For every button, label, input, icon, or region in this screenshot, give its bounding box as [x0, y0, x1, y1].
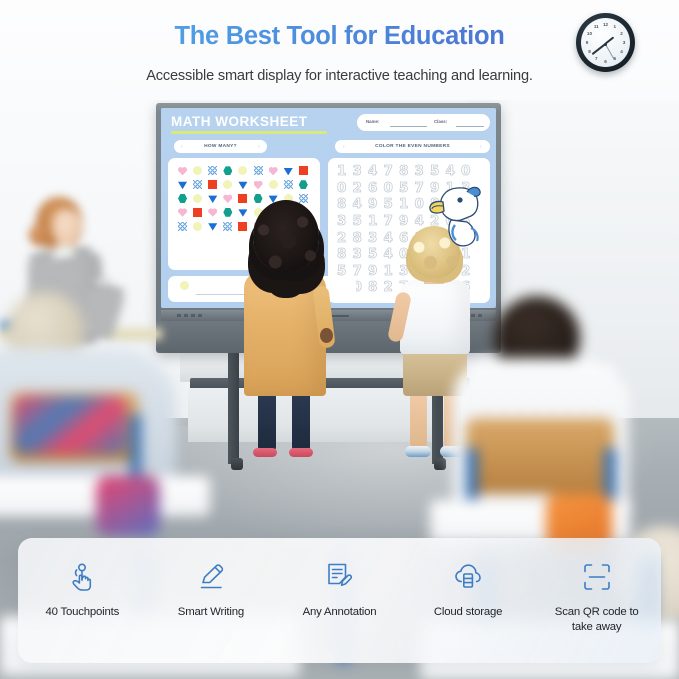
worksheet-number: 4 — [384, 246, 393, 262]
clock-numeral: 2 — [618, 31, 626, 36]
worksheet-number: 5 — [368, 246, 377, 262]
worksheet-header: MATH WORKSHEET Name: Class: — [168, 114, 490, 136]
chevron-left-icon: › — [343, 144, 345, 150]
worksheet-shape — [178, 166, 187, 175]
feature-highlights-bar: 40 Touchpoints Smart Writing — [18, 538, 661, 663]
feature-label: Cloud storage — [434, 605, 502, 620]
worksheet-shape — [254, 194, 263, 203]
worksheet-number: 8 — [337, 196, 346, 212]
chevron-right-icon: › — [480, 144, 482, 150]
duck-cartoon-drawing — [427, 180, 485, 250]
worksheet-shape — [208, 194, 217, 203]
page-subtitle: Accessible smart display for interactive… — [0, 68, 679, 84]
worksheet-number: 0 — [461, 163, 470, 179]
worksheet-number: 1 — [368, 213, 377, 229]
section-header-color-even: › COLOR THE EVEN NUMBERS › — [335, 140, 490, 153]
worksheet-number: 9 — [368, 263, 377, 279]
worksheet-shape — [299, 180, 308, 189]
worksheet-number: 4 — [415, 213, 424, 229]
worksheet-number: 0 — [384, 180, 393, 196]
chair-back — [466, 418, 614, 494]
girl-leg — [292, 390, 310, 452]
wall-clock: 121234567891011 — [576, 13, 635, 72]
feature-item-qr-scan[interactable]: Scan QR code to take away — [532, 538, 661, 634]
worksheet-shape — [178, 222, 187, 231]
worksheet-number: 2 — [384, 279, 393, 295]
backpack — [96, 476, 160, 536]
qr-scan-icon — [580, 560, 614, 594]
feature-label: Scan QR code to take away — [544, 605, 650, 634]
feature-label: 40 Touchpoints — [45, 605, 119, 620]
girl-hair-texture — [248, 206, 326, 286]
worksheet-number: 7 — [353, 263, 362, 279]
feature-item-any-annotation[interactable]: Any Annotation — [275, 538, 404, 620]
feature-item-smart-writing[interactable]: Smart Writing — [147, 538, 276, 620]
worksheet-number: 5 — [430, 163, 439, 179]
clock-numeral: 9 — [583, 40, 591, 45]
worksheet-number: 2 — [353, 180, 362, 196]
answer-blank — [196, 294, 244, 295]
worksheet-number: 5 — [399, 180, 408, 196]
worksheet-number: 0 — [415, 196, 424, 212]
worksheet-number: 7 — [384, 213, 393, 229]
teacher-hair-bun — [29, 224, 50, 246]
clock-numeral: 5 — [611, 56, 619, 61]
worksheet-number: 8 — [399, 163, 408, 179]
answer-shape — [180, 281, 189, 290]
clock-numeral: 7 — [592, 56, 600, 61]
worksheet-number: 5 — [353, 213, 362, 229]
worksheet-number: 8 — [368, 279, 377, 295]
annotation-icon — [322, 560, 356, 594]
worksheet-number: 7 — [384, 163, 393, 179]
screenshot-root: MATH WORKSHEET Name: Class: › HOW — [0, 0, 679, 679]
worksheet-number: 3 — [353, 246, 362, 262]
worksheet-shape — [223, 180, 232, 189]
worksheet-number: 8 — [337, 246, 346, 262]
feature-item-cloud-storage[interactable]: Cloud storage — [404, 538, 533, 620]
worksheet-shape — [208, 166, 217, 175]
worksheet-shape — [238, 166, 247, 175]
worksheet-shape — [178, 194, 187, 203]
worksheet-shape — [208, 180, 217, 189]
clock-numeral: 8 — [585, 49, 593, 54]
clock-numeral: 12 — [602, 22, 610, 27]
bezel-ports-left — [177, 314, 203, 317]
feature-label: Any Annotation — [303, 605, 377, 620]
worksheet-number: 4 — [384, 230, 393, 246]
chevron-left-icon: › — [181, 144, 183, 150]
clock-face: 121234567891011 — [581, 18, 630, 67]
worksheet-shape — [284, 166, 293, 175]
boy-sneaker — [405, 446, 431, 457]
worksheet-number: 7 — [415, 180, 424, 196]
worksheet-shape — [223, 194, 232, 203]
section-header-how-many: › HOW MANY? › — [174, 140, 267, 153]
worksheet-number: 3 — [353, 163, 362, 179]
worksheet-shape — [238, 180, 247, 189]
clock-numeral: 3 — [620, 40, 628, 45]
worksheet-shape — [178, 208, 187, 217]
worksheet-shape — [178, 180, 187, 189]
worksheet-shape — [238, 222, 247, 231]
touch-icon — [65, 560, 99, 594]
display-stand-column-left — [228, 346, 239, 464]
worksheet-shape — [193, 166, 202, 175]
worksheet-number: 0 — [337, 180, 346, 196]
clock-numeral: 11 — [592, 24, 600, 29]
clock-numeral: 4 — [618, 49, 626, 54]
worksheet-shape — [269, 166, 278, 175]
worksheet-number: 3 — [337, 213, 346, 229]
stand-caster — [434, 458, 446, 470]
worksheet-number: 4 — [446, 163, 455, 179]
cloud-storage-icon — [451, 560, 485, 594]
clock-numeral: 6 — [602, 59, 610, 64]
worksheet-number: 9 — [368, 196, 377, 212]
worksheet-shape — [208, 222, 217, 231]
teacher-face — [52, 209, 81, 245]
teacher-collar — [52, 246, 74, 258]
chevron-right-icon: › — [258, 144, 260, 150]
worksheet-shape — [223, 222, 232, 231]
worksheet-shape — [193, 180, 202, 189]
worksheet-number: 3 — [415, 163, 424, 179]
worksheet-shape — [193, 194, 202, 203]
worksheet-shape — [269, 180, 278, 189]
worksheet-shape — [193, 208, 202, 217]
worksheet-shape — [254, 180, 263, 189]
worksheet-shape — [223, 166, 232, 175]
worksheet-number: 5 — [384, 196, 393, 212]
worksheet-shape — [299, 194, 308, 203]
worksheet-title: MATH WORKSHEET — [171, 114, 308, 129]
worksheet-shape — [208, 208, 217, 217]
worksheet-name-class-box: Name: Class: — [357, 114, 490, 131]
feature-item-touchpoints[interactable]: 40 Touchpoints — [18, 538, 147, 620]
feature-label: Smart Writing — [178, 605, 244, 620]
name-blank — [390, 126, 427, 127]
worksheet-number: 3 — [368, 230, 377, 246]
stand-caster — [231, 458, 243, 470]
worksheet-title-underline — [171, 131, 327, 134]
girl-sandal — [289, 448, 313, 457]
worksheet-number: 1 — [337, 163, 346, 179]
clock-numeral: 10 — [585, 31, 593, 36]
worksheet-shape — [193, 222, 202, 231]
worksheet-shape — [299, 166, 308, 175]
class-label: Class: — [434, 119, 447, 124]
backpack — [14, 396, 126, 454]
worksheet-number: 1 — [384, 263, 393, 279]
worksheet-shape — [238, 208, 247, 217]
girl-sandal — [253, 448, 277, 457]
worksheet-number: 8 — [353, 230, 362, 246]
worksheet-number: 4 — [353, 196, 362, 212]
worksheet-number: 6 — [368, 180, 377, 196]
boy-leg — [410, 392, 427, 448]
worksheet-number: 1 — [399, 196, 408, 212]
worksheet-shape — [238, 194, 247, 203]
worksheet-number: 9 — [399, 213, 408, 229]
pencil-icon — [194, 560, 228, 594]
name-label: Name: — [366, 119, 379, 124]
girl-leg — [258, 390, 276, 452]
class-blank — [456, 126, 484, 127]
worksheet-shape — [223, 208, 232, 217]
clock-numeral: 1 — [611, 24, 619, 29]
worksheet-shape — [254, 166, 263, 175]
girl-hand-touching-screen — [320, 328, 333, 343]
worksheet-number: 4 — [368, 163, 377, 179]
boy-tshirt — [400, 280, 470, 354]
worksheet-shape — [284, 180, 293, 189]
worksheet-number: 2 — [337, 230, 346, 246]
